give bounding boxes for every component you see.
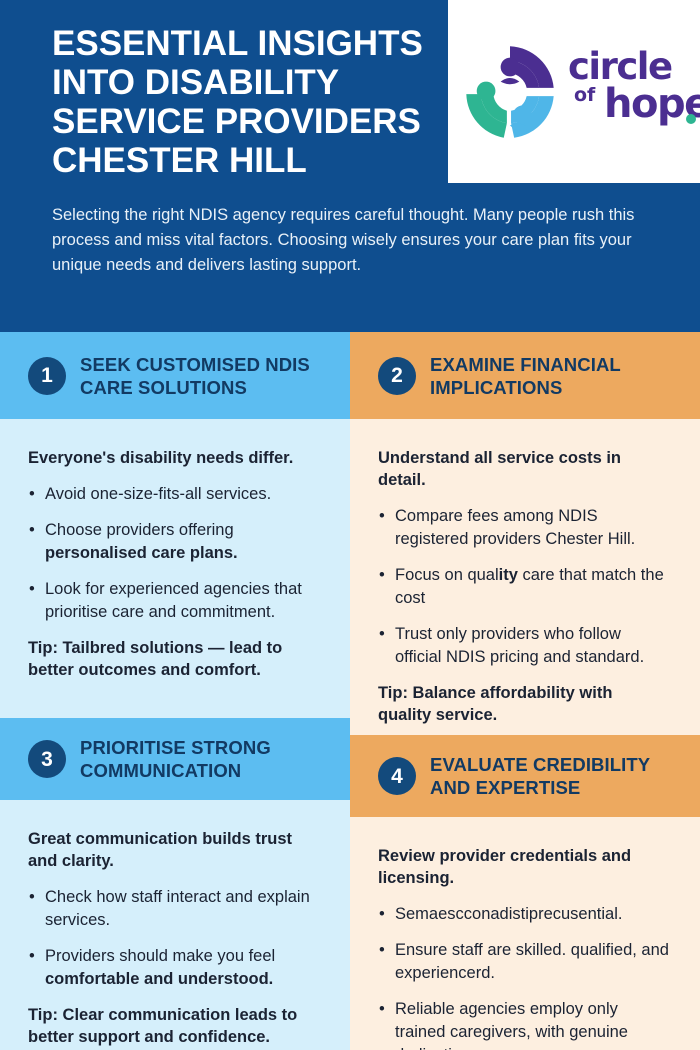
list-item: Semaescconadistiprecusential. [378,903,670,926]
section-bullets-4: Semaescconadistiprecusential. Ensure sta… [378,903,670,1050]
section-header-4: 4 EVALUATE CREDIBILITY AND EXPERTISE [350,735,700,817]
section-body-4: Review provider credentials and licensin… [350,817,700,1050]
section-body-1: Everyone's disability needs differ. Avoi… [0,419,350,718]
section-lead-2: Understand all service costs in detail. [378,447,670,491]
list-item: Providers should make you feel comfortab… [28,945,320,991]
section-header-2: 2 EXAMINE FINANCIAL IMPLICATIONS [350,332,700,419]
section-tip-1: Tip: Tailbred solutions — lead to better… [28,637,320,681]
step-number-badge-3: 3 [28,740,66,778]
logo-wordmark: circle of hope [568,42,696,142]
brand-logo: circle of hope [448,0,700,183]
bullet-text: Compare fees among NDIS registered provi… [395,507,635,548]
section-bullets-1: Avoid one-size-fits-all services. Choose… [28,483,320,624]
list-item: Reliable agencies employ only trained ca… [378,998,670,1050]
section-title-2: EXAMINE FINANCIAL IMPLICATIONS [430,353,686,399]
section-body-2: Understand all service costs in detail. … [350,419,700,735]
list-item: Avoid one-size-fits-all services. [28,483,320,506]
logo-word-circle: circle [568,48,672,85]
section-header-3: 3 PRIORITISE STRONG COMMUNICATION [0,718,350,800]
section-card-3: 3 PRIORITISE STRONG COMMUNICATION Great … [0,718,350,1050]
bullet-text: Check how staff interact and explain ser… [45,888,310,929]
section-card-4: 4 EVALUATE CREDIBILITY AND EXPERTISE Rev… [350,735,700,1050]
bullet-text: Look for experienced agencies that prior… [45,580,302,621]
sections-grid: 1 SEEK CUSTOMISED NDIS CARE SOLUTIONS Ev… [0,332,700,1050]
list-item: Check how staff interact and explain ser… [28,886,320,932]
list-item: Focus on quality care that match the cos… [378,564,670,610]
list-item: Trust only providers who follow official… [378,623,670,669]
bullet-text: Avoid one-size-fits-all services. [45,485,271,503]
step-number-badge-1: 1 [28,357,66,395]
section-title-1: SEEK CUSTOMISED NDIS CARE SOLUTIONS [80,353,336,399]
left-column: 1 SEEK CUSTOMISED NDIS CARE SOLUTIONS Ev… [0,332,350,1050]
header-subtitle: Selecting the right NDIS agency requires… [52,203,666,278]
circle-of-hope-mark-icon [458,40,562,144]
section-card-2: 2 EXAMINE FINANCIAL IMPLICATIONS Underst… [350,332,700,735]
section-lead-1: Everyone's disability needs differ. [28,447,320,469]
section-title-3: PRIORITISE STRONG COMMUNICATION [80,736,336,782]
section-bullets-2: Compare fees among NDIS registered provi… [378,505,670,669]
bullet-text: Reliable agencies employ only trained ca… [395,1000,628,1050]
section-header-1: 1 SEEK CUSTOMISED NDIS CARE SOLUTIONS [0,332,350,419]
section-bullets-3: Check how staff interact and explain ser… [28,886,320,991]
list-item: Ensure staff are skilled. qualified, and… [378,939,670,985]
section-body-3: Great communication builds trust and cla… [0,800,350,1050]
section-title-4: EVALUATE CREDIBILITY AND EXPERTISE [430,753,686,799]
section-tip-3: Tip: Clear communication leads to better… [28,1004,320,1048]
logo-word-of: of [574,86,595,105]
section-card-1: 1 SEEK CUSTOMISED NDIS CARE SOLUTIONS Ev… [0,332,350,718]
header-banner: ESSENTIAL INSIGHTS INTO DISABILITY SERVI… [0,0,700,332]
bullet-text: Ensure staff are skilled. qualified, and… [395,941,669,982]
list-item: Compare fees among NDIS registered provi… [378,505,670,551]
step-number-badge-2: 2 [378,357,416,395]
right-column: 2 EXAMINE FINANCIAL IMPLICATIONS Underst… [350,332,700,1050]
section-tip-2: Tip: Balance affordability with quality … [378,682,670,726]
section-lead-4: Review provider credentials and licensin… [378,845,670,889]
bullet-text: Semaescconadistiprecusential. [395,905,622,923]
page-title: ESSENTIAL INSIGHTS INTO DISABILITY SERVI… [52,24,452,180]
infographic-page: ESSENTIAL INSIGHTS INTO DISABILITY SERVI… [0,0,700,1050]
section-lead-3: Great communication builds trust and cla… [28,828,320,872]
logo-dot [686,114,696,124]
bullet-text: Trust only providers who follow official… [395,625,644,666]
list-item: Look for experienced agencies that prior… [28,578,320,624]
step-number-badge-4: 4 [378,757,416,795]
list-item: Choose providers offering personalised c… [28,519,320,565]
